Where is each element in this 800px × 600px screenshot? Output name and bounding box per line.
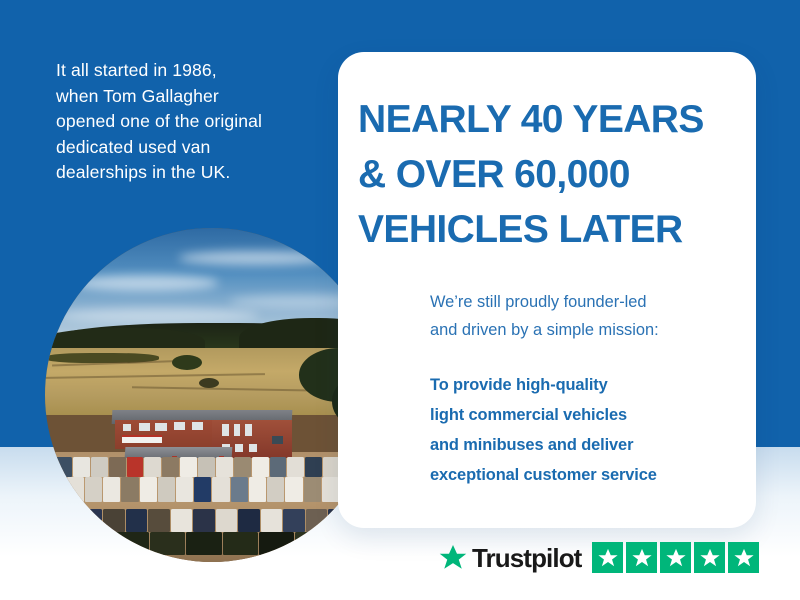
photo-window — [174, 422, 185, 430]
photo-van — [126, 509, 148, 532]
photo-van — [287, 457, 304, 478]
photo-van — [216, 509, 238, 532]
star-icon — [631, 547, 653, 569]
poster-canvas: It all started in 1986, when Tom Gallagh… — [0, 0, 800, 600]
headline-line-1: NEARLY 40 YEARS — [358, 92, 744, 147]
star-icon — [699, 547, 721, 569]
dealership-photo — [45, 228, 379, 562]
intro-line-2: when Tom Gallagher — [56, 84, 318, 110]
subtext-line-1: We’re still proudly founder-led — [430, 288, 730, 316]
headline: NEARLY 40 YEARS & OVER 60,000 VEHICLES L… — [358, 92, 744, 257]
photo-window — [249, 444, 257, 453]
photo-van — [127, 457, 144, 478]
intro-paragraph: It all started in 1986, when Tom Gallagh… — [56, 58, 318, 186]
mission-line-4: exceptional customer service — [430, 460, 730, 490]
trustpilot-wordmark: Trustpilot — [472, 545, 581, 571]
photo-van — [58, 509, 80, 532]
trustpilot-star-icon — [438, 543, 468, 573]
photo-van-row — [55, 457, 376, 478]
photo-van — [259, 532, 294, 555]
photo-van — [331, 532, 366, 555]
photo-van — [109, 457, 126, 478]
trustpilot-star-1[interactable] — [592, 542, 623, 573]
photo-van — [223, 532, 258, 555]
trustpilot-star-rating[interactable] — [592, 542, 759, 573]
photo-van — [238, 509, 260, 532]
subtext: We’re still proudly founder-led and driv… — [430, 288, 730, 344]
photo-window — [272, 436, 283, 443]
photo-van — [270, 457, 287, 478]
photo-van — [114, 532, 149, 555]
star-icon — [597, 547, 619, 569]
photo-van — [180, 457, 197, 478]
photo-van — [171, 509, 193, 532]
star-icon — [665, 547, 687, 569]
photo-van — [234, 457, 251, 478]
photo-van — [261, 509, 283, 532]
headline-line-2: & OVER 60,000 — [358, 147, 744, 202]
photo-van — [267, 477, 284, 502]
trustpilot-star-3[interactable] — [660, 542, 691, 573]
photo-van — [194, 477, 211, 502]
photo-van — [103, 477, 120, 502]
photo-window — [235, 444, 243, 453]
photo-van — [91, 457, 108, 478]
photo-tree — [172, 355, 202, 370]
photo-van-row — [48, 477, 375, 502]
intro-line-3: opened one of the original — [56, 109, 318, 135]
trustpilot-rating[interactable]: Trustpilot — [438, 542, 759, 573]
photo-van — [176, 477, 193, 502]
headline-line-3: VEHICLES LATER — [358, 202, 744, 257]
photo-van-row — [58, 509, 372, 532]
photo-van — [81, 509, 103, 532]
photo-van — [216, 457, 233, 478]
photo-van — [55, 457, 72, 478]
photo-van — [249, 477, 266, 502]
photo-van — [67, 477, 84, 502]
trustpilot-logo[interactable]: Trustpilot — [438, 543, 581, 573]
photo-window — [123, 424, 130, 431]
photo-van — [322, 477, 339, 502]
photo-van — [148, 509, 170, 532]
photo-van — [78, 532, 113, 555]
photo-van — [144, 457, 161, 478]
photo-van — [186, 532, 221, 555]
photo-van — [283, 509, 305, 532]
photo-van — [48, 477, 65, 502]
photo-window — [222, 424, 229, 436]
intro-line-5: dealerships in the UK. — [56, 160, 318, 186]
photo-van — [73, 457, 90, 478]
photo-van — [103, 509, 125, 532]
photo-van — [193, 509, 215, 532]
photo-window — [192, 422, 203, 430]
photo-illustration — [45, 228, 379, 562]
photo-window — [245, 424, 252, 436]
photo-dealership-sign — [122, 435, 162, 443]
photo-van — [304, 477, 321, 502]
photo-van — [121, 477, 138, 502]
mission-statement: To provide high-quality light commercial… — [430, 370, 730, 490]
trustpilot-star-4[interactable] — [694, 542, 725, 573]
photo-cloud — [179, 251, 333, 264]
photo-van — [252, 457, 269, 478]
photo-van — [231, 477, 248, 502]
photo-window — [234, 424, 241, 436]
mission-line-3: and minibuses and deliver — [430, 430, 730, 460]
intro-line-1: It all started in 1986, — [56, 58, 318, 84]
photo-van — [162, 457, 179, 478]
subtext-line-2: and driven by a simple mission: — [430, 316, 730, 344]
photo-van — [212, 477, 229, 502]
star-icon — [733, 547, 755, 569]
photo-van — [140, 477, 157, 502]
photo-van — [150, 532, 185, 555]
photo-window — [139, 423, 150, 431]
photo-van — [295, 532, 330, 555]
intro-line-4: dedicated used van — [56, 135, 318, 161]
photo-van — [306, 509, 328, 532]
mission-line-2: light commercial vehicles — [430, 400, 730, 430]
mission-line-1: To provide high-quality — [430, 370, 730, 400]
photo-van — [198, 457, 215, 478]
photo-van — [158, 477, 175, 502]
photo-van-row — [78, 532, 365, 555]
photo-window — [155, 423, 166, 431]
photo-van — [285, 477, 302, 502]
photo-van — [85, 477, 102, 502]
trustpilot-star-5[interactable] — [728, 542, 759, 573]
trustpilot-star-2[interactable] — [626, 542, 657, 573]
photo-van — [305, 457, 322, 478]
